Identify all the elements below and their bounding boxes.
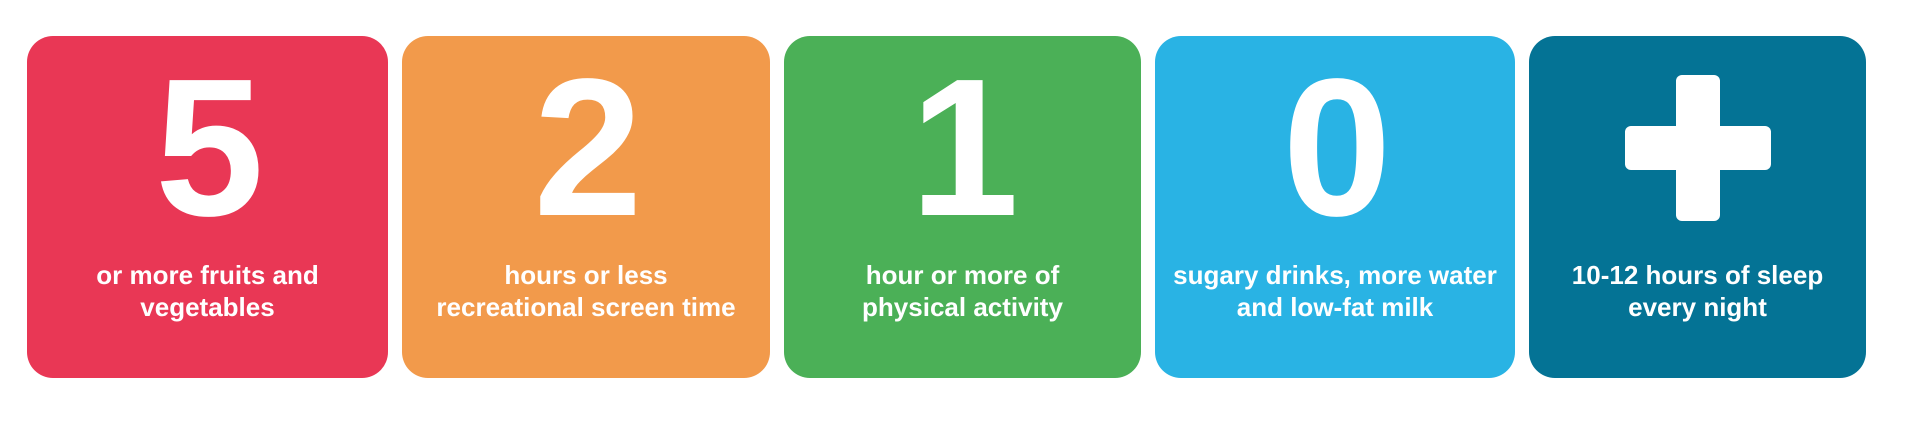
- number-zero-icon: 0: [1155, 50, 1515, 246]
- tile-zero-caption: sugary drinks, more water and low-fat mi…: [1155, 260, 1515, 323]
- tile-plus[interactable]: 10-12 hours of sleep every night: [1529, 36, 1866, 378]
- tile-two[interactable]: 2 hours or less recreational screen time: [402, 36, 770, 378]
- number-two-icon: 2: [402, 50, 770, 246]
- number-one-icon: 1: [784, 50, 1141, 246]
- tile-two-caption: hours or less recreational screen time: [402, 260, 770, 323]
- plus-sign-icon: [1625, 75, 1771, 221]
- tile-plus-caption: 10-12 hours of sleep every night: [1529, 260, 1866, 323]
- healthy-habits-banner: 5 or more fruits and vegetables 2 hours …: [0, 0, 1920, 424]
- tile-five-caption: or more fruits and vegetables: [27, 260, 388, 323]
- tile-zero[interactable]: 0 sugary drinks, more water and low-fat …: [1155, 36, 1515, 378]
- number-five-icon: 5: [27, 50, 388, 246]
- tile-row: 5 or more fruits and vegetables 2 hours …: [27, 36, 1882, 378]
- tile-five[interactable]: 5 or more fruits and vegetables: [27, 36, 388, 378]
- tile-one[interactable]: 1 hour or more of physical activity: [784, 36, 1141, 378]
- plus-sign-icon-wrap: [1529, 50, 1866, 246]
- tile-one-caption: hour or more of physical activity: [784, 260, 1141, 323]
